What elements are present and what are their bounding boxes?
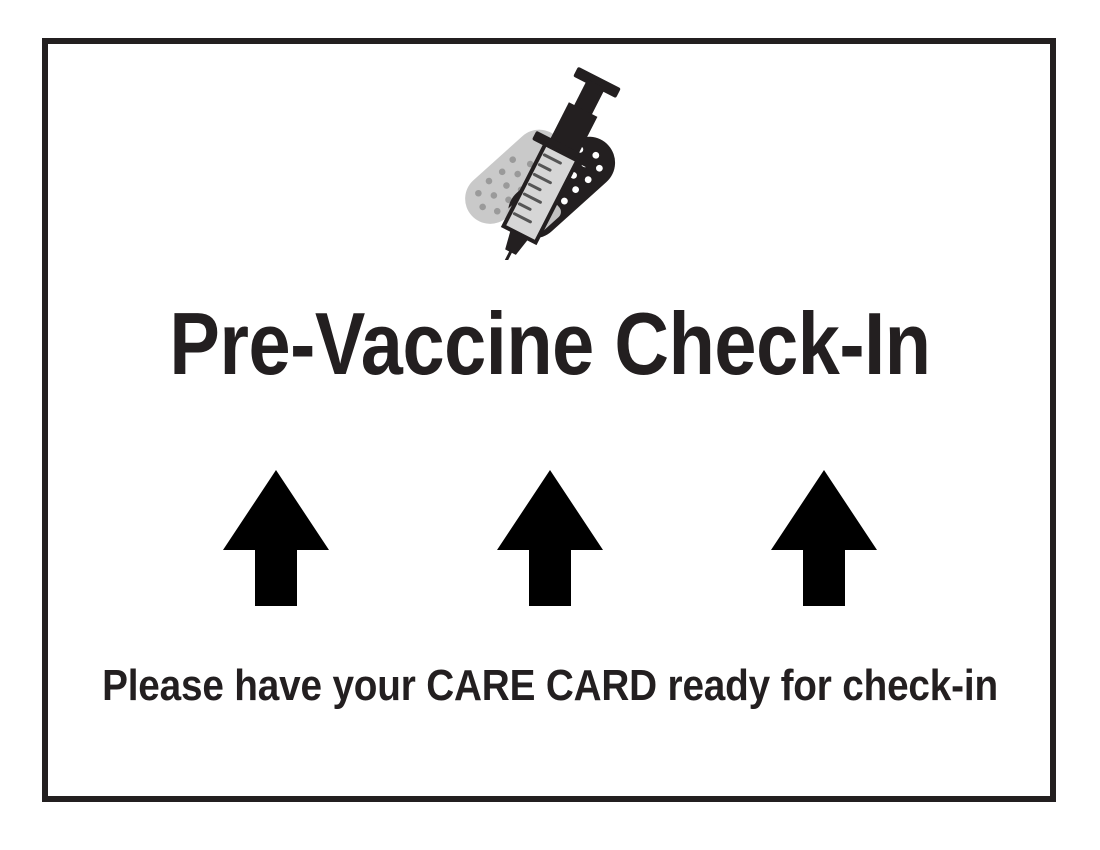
page-title: Pre-Vaccine Check-In: [77, 296, 1023, 392]
syringe-bandage-icon: [440, 60, 660, 260]
instruction-text: Please have your CARE CARD ready for che…: [66, 660, 1034, 712]
direction-arrows: [0, 468, 1100, 610]
arrow-up-icon: [495, 468, 605, 608]
arrow-up-icon: [769, 468, 879, 608]
arrow-up-icon: [221, 468, 331, 608]
vaccine-graphic: [0, 60, 1100, 265]
sign-canvas: Pre-Vaccine Check-In Please have your CA…: [0, 0, 1100, 850]
